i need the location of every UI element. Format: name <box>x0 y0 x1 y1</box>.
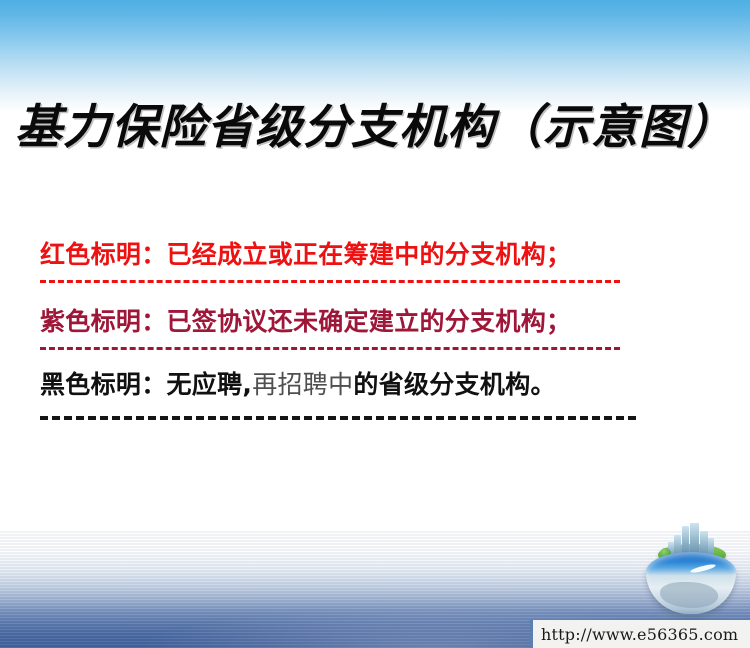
legend-item-black-label-tail: 的省级分支机构。 <box>353 370 555 399</box>
watermark-url-text: http://www.e56365.com <box>541 625 738 644</box>
legend-divider-black <box>40 416 636 420</box>
legend-block: 红色标明：已经成立或正在筹建中的分支机构； 紫色标明：已签协议还未确定建立的分支… <box>40 234 680 420</box>
slide-canvas: 基力保险省级分支机构（示意图） 红色标明：已经成立或正在筹建中的分支机构； 紫色… <box>0 0 750 648</box>
legend-item-black-label: 黑色标明：无应聘,再招聘中的省级分支机构。 <box>40 364 680 406</box>
watermark-url-box: http://www.e56365.com <box>530 620 750 648</box>
legend-item-purple: 紫色标明：已签协议还未确定建立的分支机构； <box>40 301 680 350</box>
legend-spacer-1 <box>40 283 680 301</box>
globe-city-logo-icon <box>638 522 744 618</box>
legend-item-black: 黑色标明：无应聘,再招聘中的省级分支机构。 <box>40 364 680 420</box>
legend-item-purple-label: 紫色标明：已签协议还未确定建立的分支机构； <box>40 301 680 343</box>
logo-ground-reflection <box>656 612 726 618</box>
legend-item-red: 红色标明：已经成立或正在筹建中的分支机构； <box>40 234 680 283</box>
legend-divider-red <box>40 280 620 283</box>
legend-item-black-label-thin: 再招聘中 <box>252 370 353 399</box>
legend-spacer-2 <box>40 350 680 364</box>
legend-item-red-label: 红色标明：已经成立或正在筹建中的分支机构； <box>40 234 680 276</box>
legend-divider-purple <box>40 347 620 350</box>
page-title: 基力保险省级分支机构（示意图） <box>0 96 750 160</box>
legend-item-black-label-lead: 黑色标明：无应聘, <box>40 370 252 399</box>
logo-globe-sphere <box>646 552 736 614</box>
